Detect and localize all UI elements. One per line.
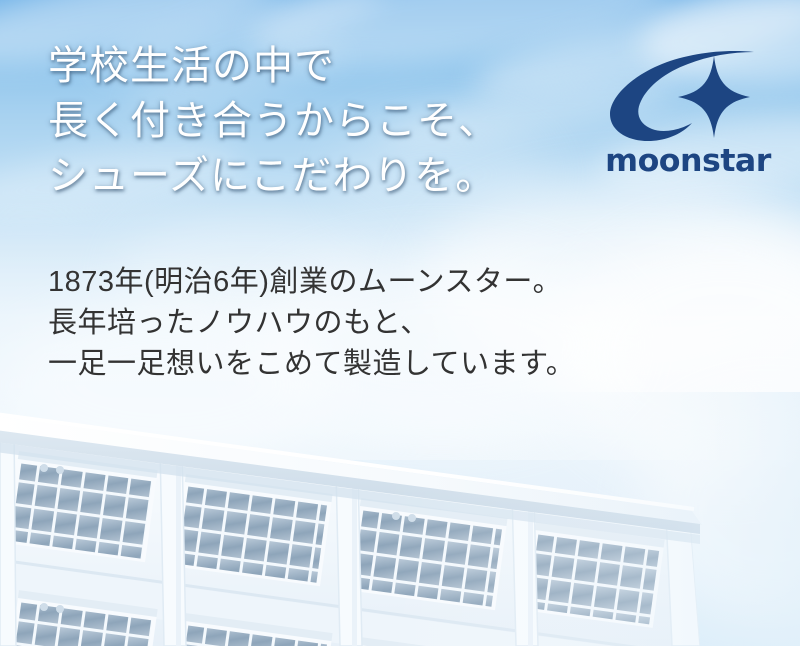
school-building-photo: [0, 392, 800, 646]
headline-line-1: 学校生活の中で: [48, 38, 499, 93]
body-line-3: 一足一足想いをこめて製造しています。: [48, 344, 575, 385]
body-copy: 1873年(明治6年)創業のムーンスター。 長年培ったノウハウのもと、 一足一足…: [48, 262, 575, 385]
moonstar-logo: moonstar: [592, 48, 784, 180]
body-line-2: 長年培ったノウハウのもと、: [48, 303, 575, 344]
body-line-1: 1873年(明治6年)創業のムーンスター。: [48, 262, 575, 303]
moonstar-wordmark: moonstar: [590, 144, 786, 178]
headline: 学校生活の中で 長く付き合うからこそ、 シューズにこだわりを。: [48, 38, 499, 203]
crescent-moon-and-star-icon: [604, 48, 772, 144]
headline-line-3: シューズにこだわりを。: [48, 148, 499, 203]
headline-line-2: 長く付き合うからこそ、: [48, 93, 499, 148]
moonstar-hero-banner: 学校生活の中で 長く付き合うからこそ、 シューズにこだわりを。 1873年(明治…: [0, 0, 800, 646]
